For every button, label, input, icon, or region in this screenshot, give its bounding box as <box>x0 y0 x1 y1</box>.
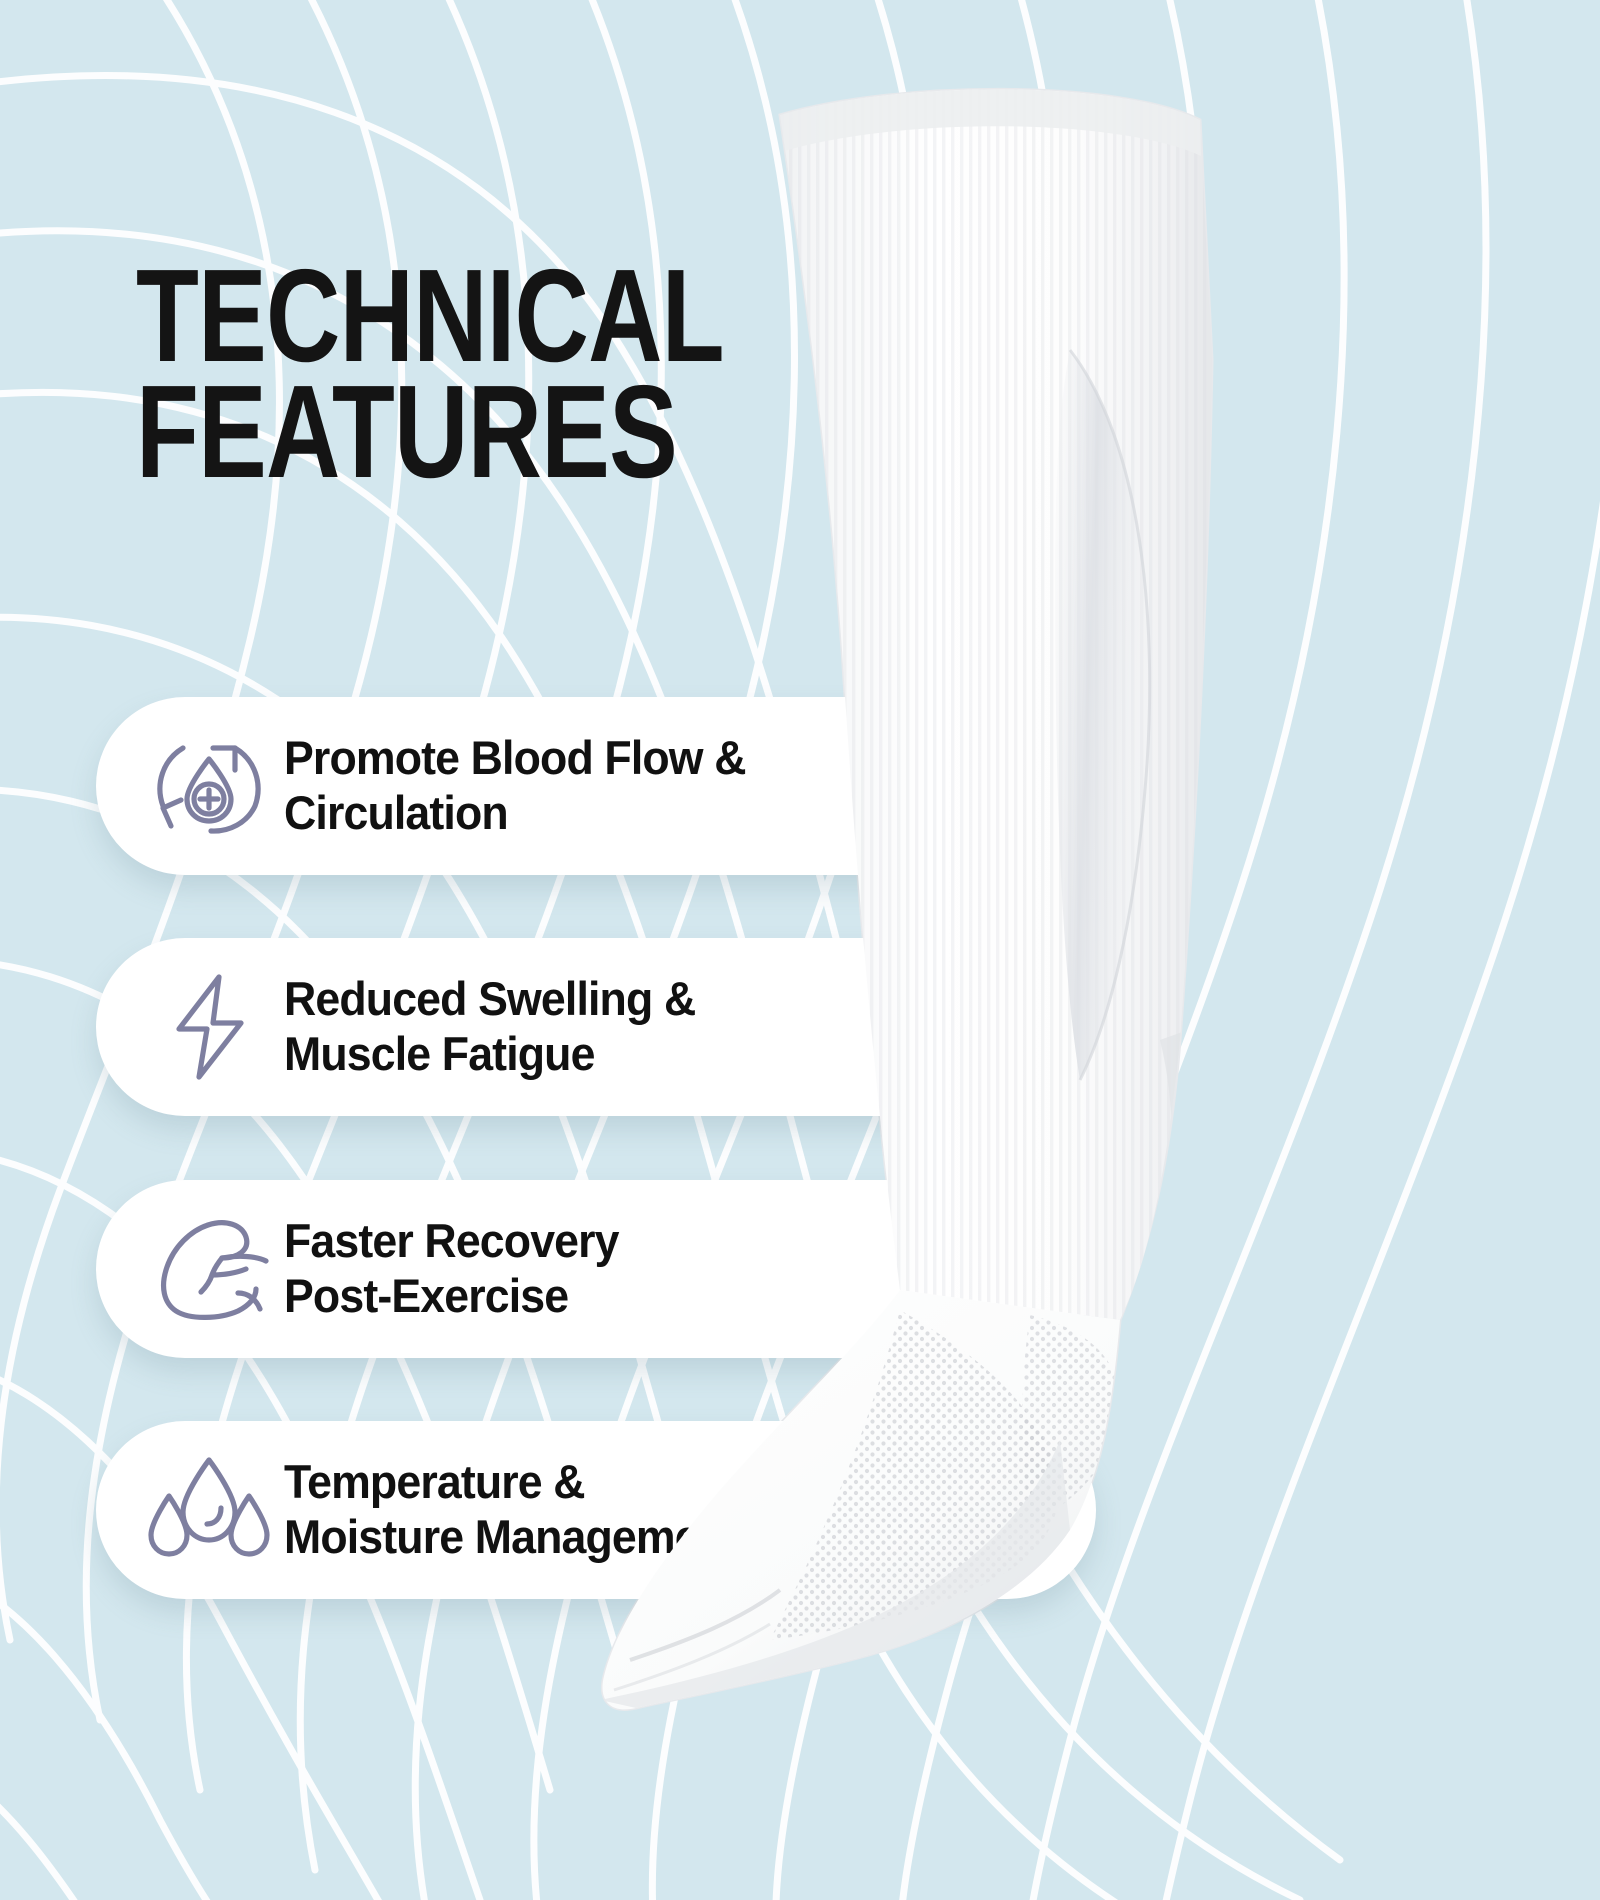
feature-label: Promote Blood Flow & Circulation <box>284 731 746 841</box>
page-title: TECHNICAL FEATURES <box>136 258 724 490</box>
feature-card-blood-flow[interactable]: Promote Blood Flow & Circulation <box>96 697 1096 875</box>
circulation-drop-cycle-icon <box>134 726 284 846</box>
feature-label: Faster Recovery Post-Exercise <box>284 1214 619 1324</box>
feature-card-moisture[interactable]: Temperature & Moisture Management <box>96 1421 1096 1599</box>
feature-card-reduced-swelling[interactable]: Reduced Swelling & Muscle Fatigue <box>96 938 1096 1116</box>
water-droplets-icon <box>134 1452 284 1568</box>
feature-label: Temperature & Moisture Management <box>284 1455 739 1565</box>
title-line-1: TECHNICAL <box>136 258 724 374</box>
promo-graphic: TECHNICAL FEATURES Promote Blood Flow & … <box>0 0 1600 1900</box>
flexed-bicep-icon <box>134 1211 284 1327</box>
lightning-bolt-icon <box>134 967 284 1087</box>
title-line-2: FEATURES <box>136 374 724 490</box>
feature-label: Reduced Swelling & Muscle Fatigue <box>284 972 695 1082</box>
feature-card-faster-recovery[interactable]: Faster Recovery Post-Exercise <box>96 1180 1096 1358</box>
